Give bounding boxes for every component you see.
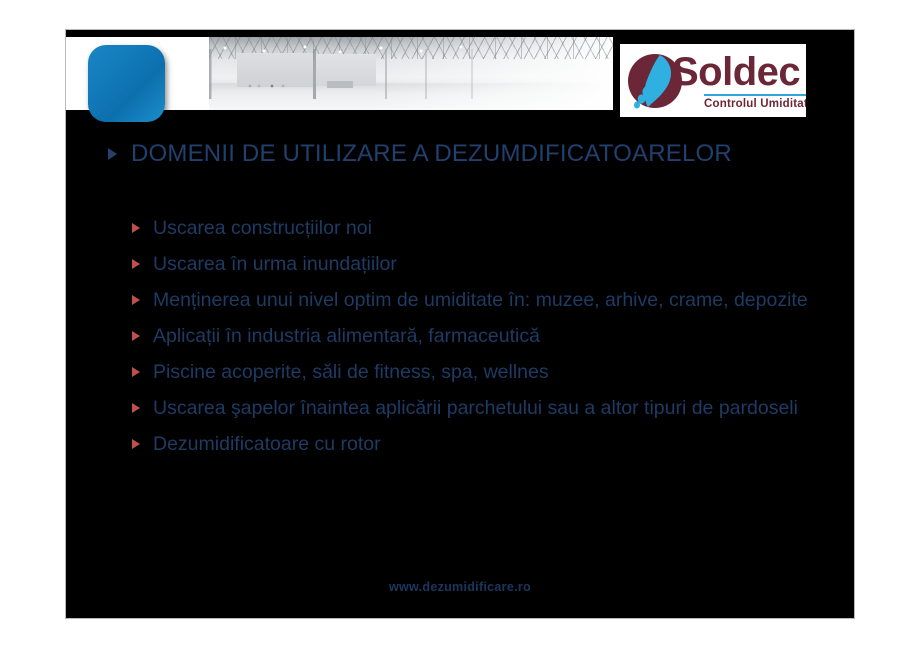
soldec-tagline: Controlul Umiditatii (704, 98, 806, 110)
logo-accent-rule (704, 94, 806, 96)
list-item-label: Uscarea şapelor înaintea aplicării parch… (153, 395, 798, 422)
triangle-right-icon (132, 403, 140, 413)
triangle-right-icon (132, 223, 140, 233)
list-item: Uscarea în urma inundațiilor (132, 251, 832, 278)
industrial-hall-photo (209, 37, 613, 110)
presentation-slide: Soldec Controlul Umiditatii DOMENII DE U… (66, 30, 854, 618)
hall-crate (327, 81, 353, 88)
list-item-label: Dezumidificatoare cu rotor (153, 431, 381, 458)
slide-title-row: DOMENII DE UTILIZARE A DEZUMDIFICATOAREL… (108, 140, 838, 168)
list-item: Uscarea construcțiilor noi (132, 215, 832, 242)
soldec-logo[interactable]: Soldec Controlul Umiditatii (620, 44, 806, 117)
footer-website-url[interactable]: www.dezumidificare.ro (66, 580, 854, 594)
list-item-label: Piscine acoperite, săli de fitness, spa,… (153, 359, 549, 386)
list-item: Uscarea şapelor înaintea aplicării parch… (132, 395, 832, 422)
triangle-right-icon (132, 439, 140, 449)
blue-rounded-square-shape (88, 45, 165, 122)
triangle-right-icon (132, 367, 140, 377)
list-item: Aplicații în industria alimentară, farma… (132, 323, 832, 350)
triangle-right-icon (132, 259, 140, 269)
list-item: Dezumidificatoare cu rotor (132, 431, 832, 458)
page-title: DOMENII DE UTILIZARE A DEZUMDIFICATOAREL… (131, 140, 732, 168)
triangle-right-icon (108, 148, 117, 160)
list-item: Menținerea unui nivel optim de umiditate… (132, 287, 832, 314)
list-item-label: Menținerea unui nivel optim de umiditate… (153, 287, 808, 314)
soldec-wordmark: Soldec (672, 52, 800, 92)
hall-wall-panel (237, 53, 313, 87)
list-item-label: Aplicații în industria alimentară, farma… (153, 323, 540, 350)
list-item-label: Uscarea în urma inundațiilor (153, 251, 397, 278)
hall-containers (247, 83, 289, 89)
slide-header-banner: Soldec Controlul Umiditatii (66, 37, 854, 110)
list-item: Piscine acoperite, săli de fitness, spa,… (132, 359, 832, 386)
bullet-list: Uscarea construcțiilor noi Uscarea în ur… (132, 215, 832, 467)
triangle-right-icon (132, 295, 140, 305)
list-item-label: Uscarea construcțiilor noi (153, 215, 372, 242)
triangle-right-icon (132, 331, 140, 341)
